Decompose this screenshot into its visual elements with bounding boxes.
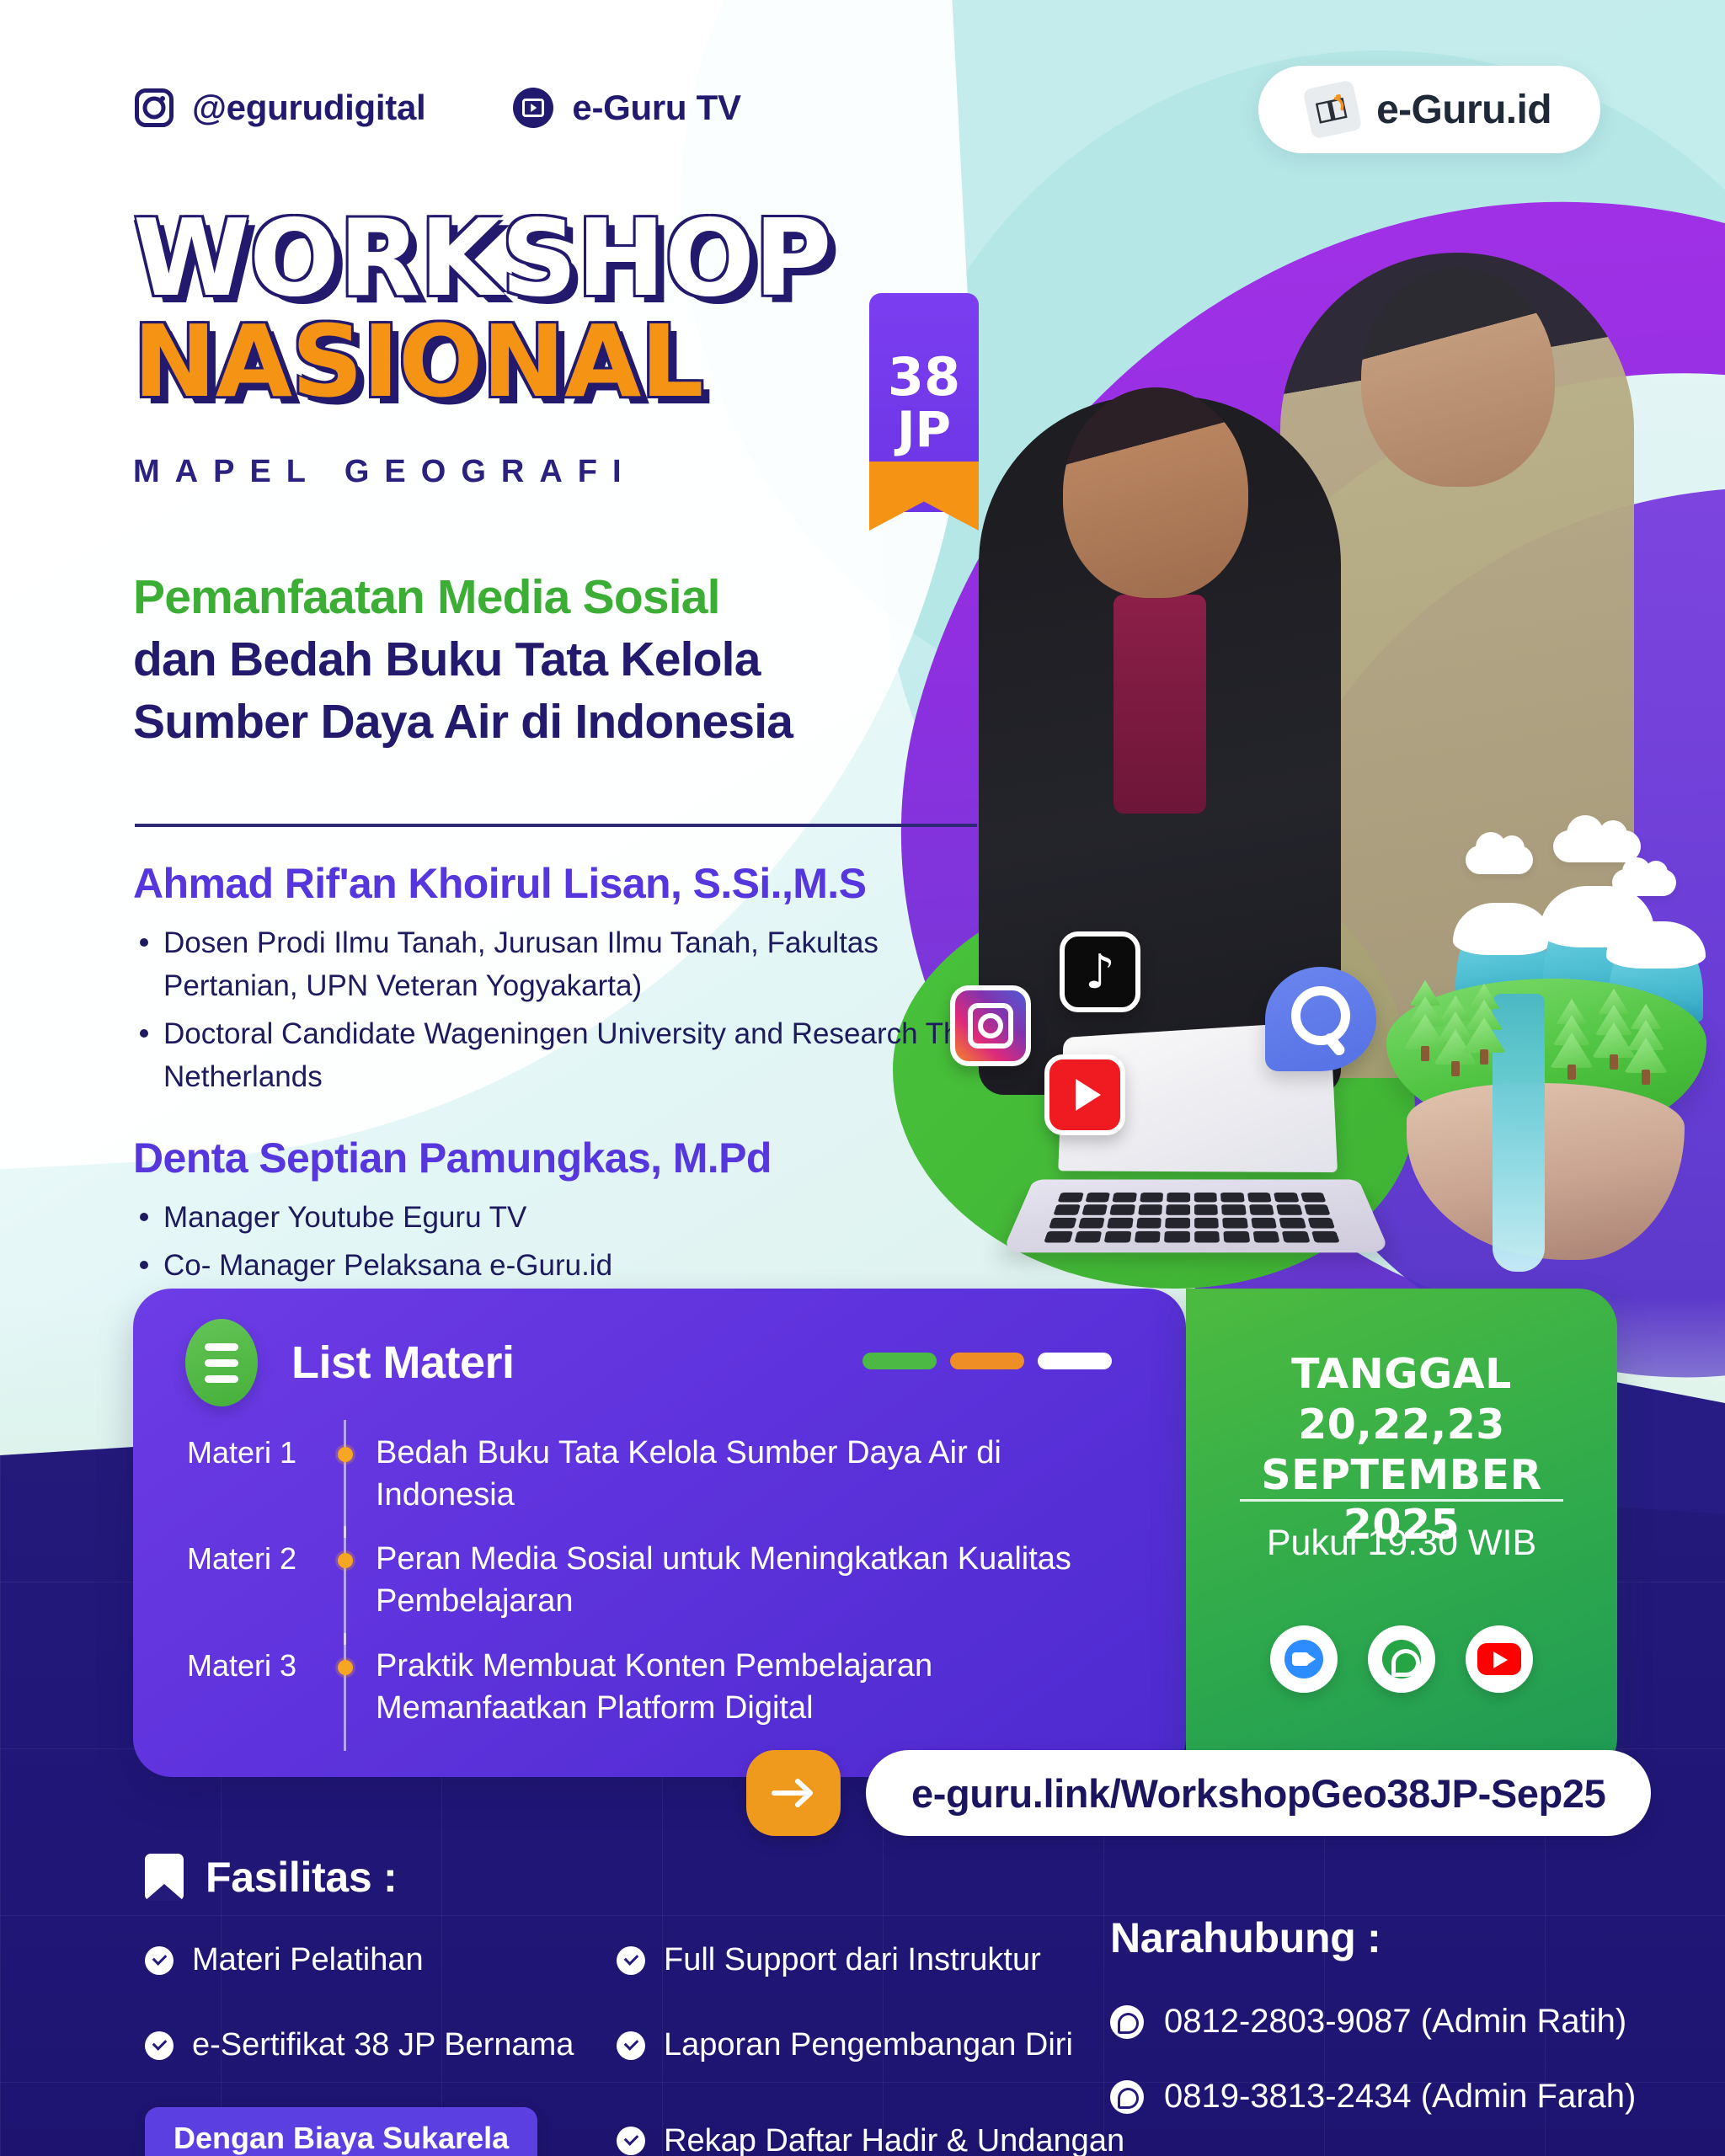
jp-badge-unit: JP: [897, 405, 951, 454]
brand-badge[interactable]: e-Guru.id: [1258, 66, 1600, 153]
brand-label: e-Guru.id: [1376, 87, 1551, 133]
materi-panel-pills: [862, 1353, 1112, 1369]
materi-1-text: Bedah Buku Tata Kelola Sumber Daya Air d…: [376, 1432, 1083, 1516]
materi-list: Materi 1 Bedah Buku Tata Kelola Sumber D…: [133, 1432, 1186, 1729]
list-item: Co- Manager Pelaksana e-Guru.id: [133, 1244, 992, 1287]
narahubung-title: Narahubung :: [1110, 1913, 1700, 1962]
arrow-right-icon[interactable]: [746, 1750, 841, 1836]
header-social-row: @egurudigital e-Guru TV: [135, 88, 741, 128]
registration-link-pill[interactable]: e-guru.link/WorkshopGeo38JP-Sep25: [866, 1750, 1651, 1836]
list-item: Manager Youtube Eguru TV: [133, 1196, 992, 1239]
fasilitas-section: Fasilitas : Materi Pelatihan Full Suppor…: [145, 1853, 1097, 2156]
instagram-icon: [950, 985, 1031, 1066]
cloud-icon: [1466, 846, 1533, 874]
materi-panel: List Materi Materi 1 Bedah Buku Tata Kel…: [133, 1289, 1186, 1777]
youtube-icon: [1044, 1054, 1125, 1135]
divider: [135, 824, 977, 827]
jp-badge-number: 38: [888, 351, 960, 403]
list-item: Rekap Daftar Hadir & Undangan: [617, 2112, 1088, 2156]
timeline-track: [344, 1633, 346, 1751]
waterfall-shape: [1493, 994, 1545, 1272]
materi-2-text: Peran Media Sosial untuk Meningkatkan Ku…: [376, 1538, 1083, 1622]
book-logo-icon: [1302, 79, 1362, 139]
schedule-date: TANGGAL 20,22,23 SEPTEMBER 2025: [1186, 1349, 1617, 1550]
header: @egurudigital e-Guru TV e-Guru.id: [0, 0, 1725, 168]
hamburger-menu-icon: [185, 1319, 258, 1406]
topic-line-1: Pemanfaatan Media Sosial: [133, 566, 992, 628]
check-icon: [617, 2127, 645, 2155]
contact-1: 0819-3813-2434 (Admin Farah): [1164, 2078, 1636, 2116]
timeline-dot: [338, 1660, 353, 1675]
materi-1-label: Materi 1: [133, 1432, 327, 1470]
zoom-icon[interactable]: [1270, 1625, 1338, 1693]
topic-line-3: Sumber Daya Air di Indonesia: [133, 691, 992, 753]
check-icon: [145, 1946, 174, 1975]
floating-island-illustration: [1356, 825, 1725, 1263]
bookmark-icon: [145, 1854, 184, 1901]
fasilitas-grid: Materi Pelatihan Full Support dari Instr…: [145, 1942, 1097, 2156]
whatsapp-icon: [1110, 2005, 1144, 2039]
check-icon: [145, 2031, 174, 2060]
list-item: Materi 1 Bedah Buku Tata Kelola Sumber D…: [133, 1432, 1132, 1516]
list-item: Materi 2 Peran Media Sosial untuk Mening…: [133, 1538, 1132, 1622]
speaker-photo-back-head: [1361, 268, 1555, 487]
island-rock-base: [1407, 1083, 1685, 1260]
timeline-dot: [338, 1447, 353, 1462]
speaker-1-bullets: Dosen Prodi Ilmu Tanah, Jurusan Ilmu Tan…: [133, 921, 992, 1098]
timeline-dot: [338, 1553, 353, 1568]
schedule-panel: TANGGAL 20,22,23 SEPTEMBER 2025 Pukul 19…: [1186, 1289, 1617, 1777]
pill-white: [1038, 1353, 1112, 1369]
schedule-time: Pukul 19.30 WIB: [1186, 1523, 1617, 1564]
laptop-keyboard: [1044, 1193, 1339, 1242]
fasilitas-item-4: Rekap Daftar Hadir & Undangan: [664, 2123, 1124, 2156]
status-badge: Dengan Biaya Sukarela: [145, 2107, 537, 2156]
fasilitas-item-2: e-Sertifikat 38 JP Bernama: [192, 2027, 574, 2063]
registration-link-text: e-guru.link/WorkshopGeo38JP-Sep25: [911, 1770, 1605, 1817]
youtube-icon[interactable]: [1466, 1625, 1533, 1693]
pill-green: [862, 1353, 937, 1369]
fasilitas-title: Fasilitas :: [206, 1853, 397, 1902]
tiktok-icon: ♪: [1060, 931, 1140, 1012]
social-youtube-label: e-Guru TV: [572, 88, 740, 128]
speaker-photo-front-shirt: [1114, 595, 1206, 814]
list-item: Dosen Prodi Ilmu Tanah, Jurusan Ilmu Tan…: [133, 921, 992, 1007]
fasilitas-item-1: Full Support dari Instruktur: [664, 1942, 1041, 1978]
materi-2-label: Materi 2: [133, 1538, 327, 1577]
list-item: Full Support dari Instruktur: [617, 1942, 1088, 1978]
timeline-track: [344, 1420, 346, 1538]
social-instagram[interactable]: @egurudigital: [135, 88, 425, 128]
list-item: Laporan Pengembangan Diri: [617, 2027, 1088, 2063]
fasilitas-item-3: Laporan Pengembangan Diri: [664, 2027, 1073, 2063]
fasilitas-header: Fasilitas :: [145, 1853, 1097, 1902]
schedule-divider: [1240, 1499, 1563, 1502]
materi-3-label: Materi 3: [133, 1645, 327, 1684]
whatsapp-icon: [1110, 2080, 1144, 2114]
illustration-group: ♪: [918, 859, 1725, 1297]
speaker-1-name: Ahmad Rif'an Khoirul Lisan, S.Si.,M.S: [133, 859, 992, 908]
timeline-track: [344, 1526, 346, 1644]
list-item: Materi Pelatihan: [145, 1942, 617, 1978]
topic-line-2: dan Bedah Buku Tata Kelola: [133, 628, 992, 691]
speaker-photo-front-head: [1063, 387, 1248, 598]
instagram-icon: [135, 88, 174, 127]
poster-root: @egurudigital e-Guru TV e-Guru.id: [0, 0, 1725, 2156]
materi-panel-title: List Materi: [291, 1337, 515, 1389]
materi-3-text: Praktik Membuat Konten Pembelajaran Mema…: [376, 1645, 1083, 1729]
contact-0: 0812-2803-9087 (Admin Ratih): [1164, 2003, 1626, 2041]
pill-orange: [950, 1353, 1024, 1369]
contact-row[interactable]: 0812-2803-9087 (Admin Ratih): [1110, 2003, 1700, 2041]
check-icon: [617, 1946, 645, 1975]
youtube-icon: [513, 88, 553, 128]
list-item: e-Sertifikat 38 JP Bernama: [145, 2027, 617, 2063]
speaker-2-bullets: Manager Youtube Eguru TV Co- Manager Pel…: [133, 1196, 992, 1287]
list-item: Materi 3 Praktik Membuat Konten Pembelaj…: [133, 1645, 1132, 1729]
speakers-section: Ahmad Rif'an Khoirul Lisan, S.Si.,M.S Do…: [133, 859, 992, 1293]
materi-panel-header: List Materi: [185, 1319, 515, 1406]
social-instagram-label: @egurudigital: [192, 88, 425, 128]
speaker-2-name: Denta Septian Pamungkas, M.Pd: [133, 1134, 992, 1182]
list-item: Doctoral Candidate Wageningen University…: [133, 1012, 992, 1098]
fasilitas-item-0: Materi Pelatihan: [192, 1942, 424, 1978]
schedule-platform-icons: [1186, 1625, 1617, 1693]
contact-row[interactable]: 0819-3813-2434 (Admin Farah): [1110, 2078, 1700, 2116]
cloud-icon: [1553, 830, 1641, 862]
check-icon: [617, 2031, 645, 2060]
topic-block: Pemanfaatan Media Sosial dan Bedah Buku …: [133, 566, 992, 753]
social-youtube[interactable]: e-Guru TV: [513, 88, 740, 128]
schedule-date-line1: TANGGAL 20,22,23: [1215, 1349, 1589, 1450]
registration-link-bar[interactable]: e-guru.link/WorkshopGeo38JP-Sep25: [746, 1750, 1651, 1836]
narahubung-section: Narahubung : 0812-2803-9087 (Admin Ratih…: [1110, 1913, 1700, 2153]
whatsapp-icon[interactable]: [1368, 1625, 1435, 1693]
